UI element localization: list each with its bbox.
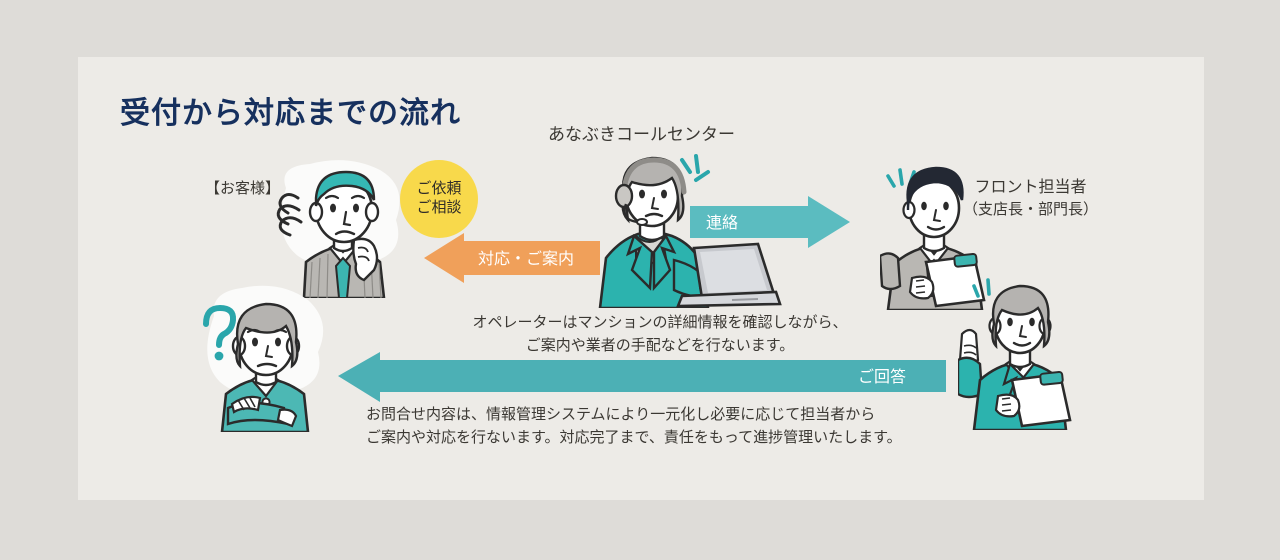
customer-male-illustration	[268, 158, 418, 298]
diagram-root: 受付から対応までの流れ 【お客様】 あなぶきコールセンター フロント担当者 （支…	[0, 0, 1280, 560]
arrow-response-guidance-label: 対応・ご案内	[478, 245, 574, 269]
call-center-label: あなぶきコールセンター	[548, 123, 735, 148]
page-title: 受付から対応までの流れ	[120, 88, 461, 132]
request-bubble-line1: ご依頼	[416, 180, 461, 199]
front-staff-female-illustration	[958, 268, 1088, 430]
request-bubble-line2: ご相談	[416, 199, 461, 218]
operator-description: オペレーターはマンションの詳細情報を確認しながら、 ご案内や業者の手配などを行な…	[430, 311, 890, 358]
customer-female-illustration	[188, 282, 338, 432]
arrow-answer-label: ご回答	[858, 363, 906, 387]
system-description: お問合せ内容は、情報管理システムにより一元化し必要に応じて担当者から ご案内や対…	[366, 403, 966, 450]
operator-illustration	[562, 148, 782, 308]
